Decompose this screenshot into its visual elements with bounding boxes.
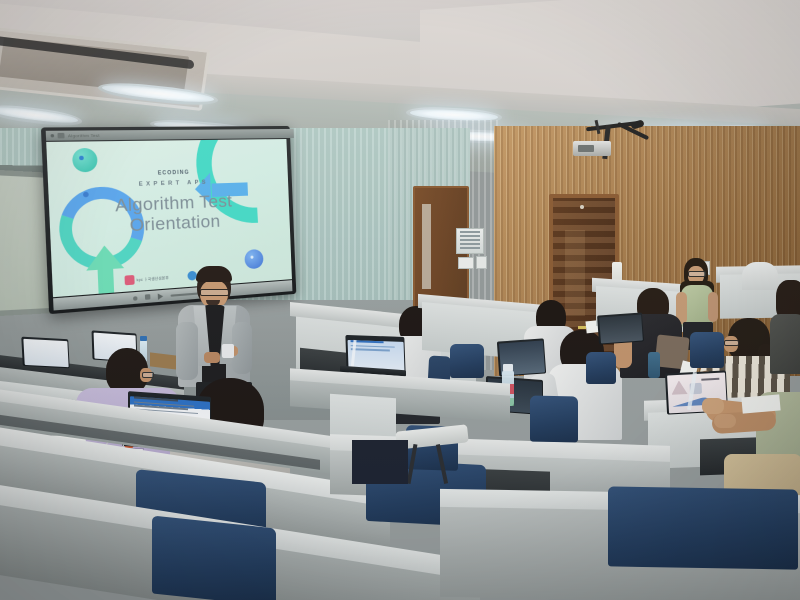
- slide-decoration-circle-topleft: [72, 148, 98, 173]
- student-olive-right-hand-2: [714, 414, 736, 428]
- student-center-lower-body: [352, 440, 408, 484]
- student-olive-right-hand-1: [702, 398, 724, 414]
- student-striped-glasses: [724, 340, 739, 346]
- playback-stop-icon[interactable]: [145, 294, 151, 300]
- main-door-viewer: [580, 205, 584, 209]
- wall-light-switch[interactable]: [458, 257, 474, 269]
- tumbler-2[interactable]: [648, 352, 660, 378]
- student-purple-glasses: [142, 372, 154, 378]
- standing-woman-glasses: [688, 271, 706, 277]
- chair-bottom-left[interactable]: [152, 515, 276, 600]
- laptop-right-back[interactable]: [597, 312, 644, 344]
- titlebar-app-icon: [57, 133, 64, 139]
- projection-screen: Algorithm Test ECODING EXPERT APS Algori…: [41, 126, 296, 314]
- titlebar-dot-icon: [51, 134, 55, 137]
- playback-play-icon[interactable]: [158, 293, 164, 300]
- presenter-arm-left: [176, 322, 198, 380]
- wall-control-switch[interactable]: [476, 256, 487, 269]
- presenter-clicker[interactable]: [222, 344, 234, 358]
- laptop-right-back-screen: [599, 314, 643, 343]
- water-bottle-1-cap: [140, 336, 147, 341]
- main-door-inlay: [565, 230, 585, 316]
- kpc-logo-text: kpc ㅏ국생산성본부: [136, 275, 169, 283]
- slide-decoration-up-arrow-head: [85, 244, 124, 270]
- kpc-logo-icon: [124, 275, 134, 285]
- projector-lens-panel: [578, 145, 594, 152]
- wall-notice-panel: [456, 228, 484, 254]
- chair-right-back[interactable]: [690, 332, 724, 368]
- standing-woman-arm-right: [708, 292, 718, 322]
- main-door-plate: [578, 326, 586, 329]
- presenter-hand-left: [204, 352, 220, 363]
- laptop-left-1[interactable]: [21, 337, 69, 369]
- slide-logo-kpc: kpc ㅏ국생산성본부: [124, 273, 169, 286]
- slide-title: Algorithm Test Orientation: [49, 189, 290, 239]
- handout-paper-4[interactable]: [741, 394, 780, 413]
- playback-prev-icon[interactable]: [133, 296, 138, 301]
- side-door-glass-panel: [422, 204, 431, 289]
- ceiling-projector: [573, 141, 611, 156]
- presenter-hair-top: [196, 266, 232, 282]
- student-far-right-edge-shirt: [770, 314, 800, 374]
- seat-shell-far-right: [742, 262, 778, 290]
- chair-row3-center[interactable]: [530, 396, 578, 443]
- water-bottle-3-cap: [503, 364, 513, 371]
- chair-bottom-right[interactable]: [608, 486, 798, 569]
- presenter-glasses: [200, 289, 229, 296]
- chair-row2-right[interactable]: [450, 344, 484, 378]
- chair-right-mid[interactable]: [586, 352, 616, 384]
- laptop-left-1-screen: [23, 338, 68, 366]
- lecture-hall-photo: Algorithm Test ECODING EXPERT APS Algori…: [0, 0, 800, 600]
- titlebar-window-text: Algorithm Test: [68, 133, 100, 139]
- presentation-slide: ECODING EXPERT APS Algorithm Test Orient…: [46, 139, 292, 297]
